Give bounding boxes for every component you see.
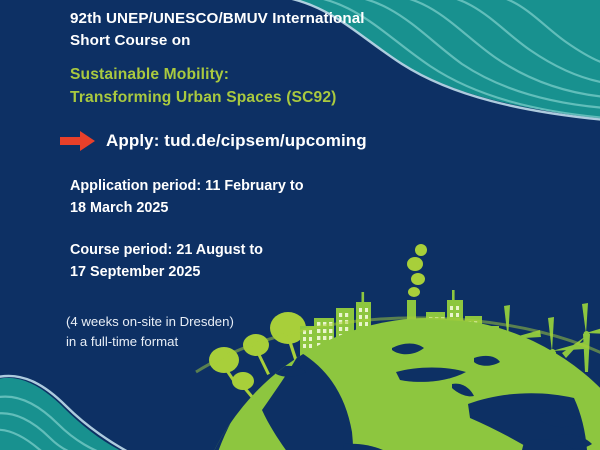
course-title: Sustainable Mobility: Transforming Urban… — [70, 64, 510, 109]
application-period-line2: 18 March 2025 — [70, 200, 168, 216]
course-heading: 92th UNEP/UNESCO/BMUV International Shor… — [70, 8, 490, 51]
format-note: (4 weeks on-site in Dresden) in a full-t… — [66, 312, 366, 352]
application-period-line1: Application period: 11 February to — [70, 178, 303, 194]
application-period: Application period: 11 February to 18 Ma… — [70, 176, 470, 219]
course-title-line2: Transforming Urban Spaces (SC92) — [70, 89, 337, 106]
course-period-line1: Course period: 21 August to — [70, 242, 263, 258]
course-title-line1: Sustainable Mobility: — [70, 66, 229, 83]
course-period: Course period: 21 August to 17 September… — [70, 240, 470, 283]
format-note-line1: (4 weeks on-site in Dresden) — [66, 314, 234, 329]
apply-link-label[interactable]: Apply: tud.de/cipsem/upcoming — [106, 131, 367, 151]
poster-canvas: 92th UNEP/UNESCO/BMUV International Shor… — [0, 0, 600, 450]
course-period-line2: 17 September 2025 — [70, 264, 200, 280]
course-heading-line1: 92th UNEP/UNESCO/BMUV International — [70, 10, 365, 27]
apply-row[interactable]: Apply: tud.de/cipsem/upcoming — [60, 130, 367, 152]
format-note-line2: in a full-time format — [66, 334, 178, 349]
poster-content: 92th UNEP/UNESCO/BMUV International Shor… — [0, 0, 600, 450]
right-arrow-icon — [60, 130, 96, 152]
course-heading-line2: Short Course on — [70, 32, 190, 49]
